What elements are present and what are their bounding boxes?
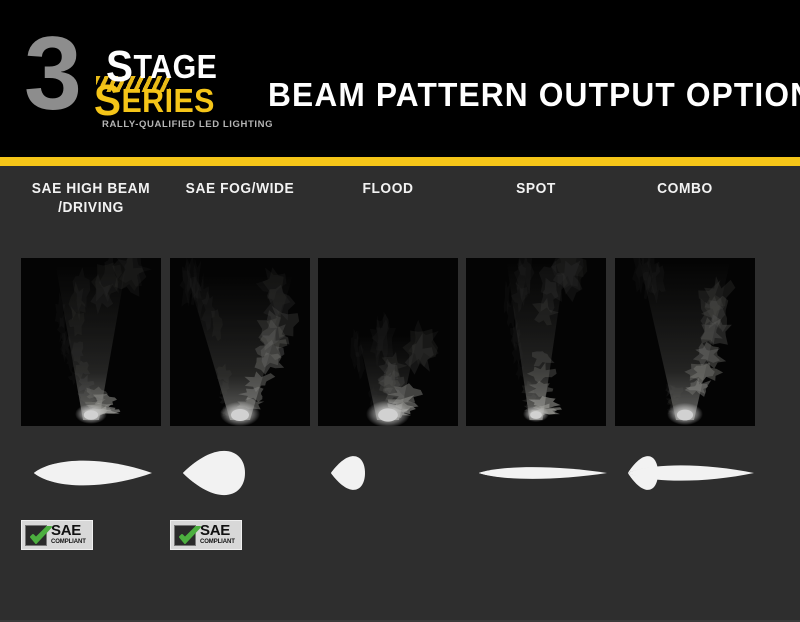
sae-badge-text: SAE COMPLIANT: [200, 524, 235, 546]
beam-photo-fog-wide: [170, 258, 310, 426]
logo-stage-rest: TAGE: [133, 48, 217, 85]
sae-check-box: [25, 525, 47, 546]
green-check-icon: [177, 526, 203, 548]
sae-compliant-badge: SAE COMPLIANT: [21, 520, 93, 550]
sae-compliant-badge: SAE COMPLIANT: [170, 520, 242, 550]
page-title: BEAM PATTERN OUTPUT OPTIONS: [268, 78, 800, 112]
brand-logo: 3 STAGE SERIES RALLY-QUALIFIED LED LIGHT…: [24, 22, 239, 132]
logo-word-series: SERIES: [94, 84, 215, 117]
beam-photo-combo: [615, 258, 755, 426]
beam-column-flood[interactable]: FLOOD: [313, 166, 463, 566]
beam-photo-high-beam-driving: [21, 258, 161, 426]
beam-photo-flood: [318, 258, 458, 426]
logo-series-rest: ERIES: [121, 82, 214, 119]
beam-profile-flood: [313, 438, 463, 508]
sae-badge-main: SAE: [51, 524, 86, 538]
column-title-combo: COMBO: [614, 180, 757, 199]
sae-check-box: [174, 525, 196, 546]
beam-profile-spot: [461, 438, 611, 508]
sae-badge-text: SAE COMPLIANT: [51, 524, 86, 546]
column-title-flood: FLOOD: [317, 180, 460, 199]
beam-profile-high-beam-driving: [16, 438, 166, 508]
green-check-icon: [28, 526, 54, 548]
beam-pattern-board: SAE HIGH BEAM/DRIVING: [0, 166, 800, 622]
beam-column-high-beam-driving[interactable]: SAE HIGH BEAM/DRIVING: [16, 166, 166, 566]
sae-badge-main: SAE: [200, 524, 235, 538]
logo-numeral: 3: [24, 22, 78, 126]
column-title-spot: SPOT: [465, 180, 608, 199]
header-banner: 3 STAGE SERIES RALLY-QUALIFIED LED LIGHT…: [0, 0, 800, 157]
sae-badge-sub: COMPLIANT: [200, 538, 235, 546]
logo-tagline: RALLY-QUALIFIED LED LIGHTING: [102, 120, 273, 130]
logo-series-cap: S: [94, 76, 121, 125]
sae-badge-sub: COMPLIANT: [51, 538, 86, 546]
beam-profile-fog-wide: [165, 438, 315, 508]
beam-photo-spot: [466, 258, 606, 426]
beam-column-spot[interactable]: SPOT: [461, 166, 611, 566]
logo-word-stage: STAGE: [106, 50, 217, 83]
beam-column-combo[interactable]: COMBO: [610, 166, 760, 566]
column-title-fog-wide: SAE FOG/WIDE: [169, 180, 312, 199]
column-title-high-beam-driving: SAE HIGH BEAM/DRIVING: [20, 180, 163, 218]
yellow-accent-bar: [0, 157, 800, 166]
beam-column-fog-wide[interactable]: SAE FOG/WIDE: [165, 166, 315, 566]
beam-profile-combo: [610, 438, 760, 508]
